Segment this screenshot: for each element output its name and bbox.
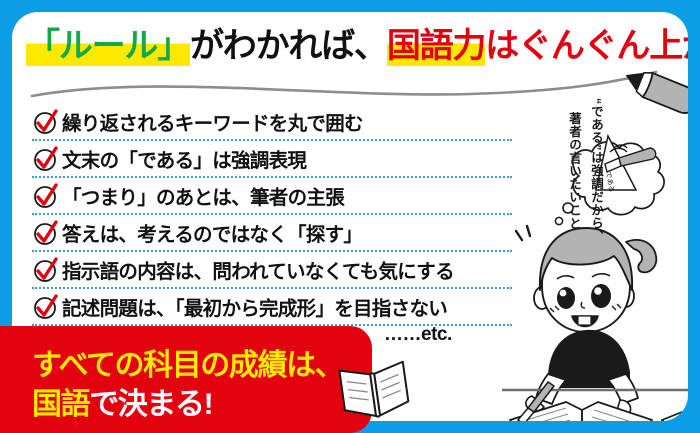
check-circle-icon	[32, 183, 58, 209]
list-item[interactable]: 答えは、考えるのではなく「探す」	[32, 215, 512, 252]
sparkle-marks	[516, 226, 530, 240]
list-item[interactable]: 「つまり」のあとは、筆者の主張	[32, 178, 512, 215]
list-item-label: 「つまり」のあとは、筆者の主張	[62, 181, 344, 210]
page-title: 「ルール」がわかれば、国語力はぐんぐん上がる!	[26, 20, 674, 72]
list-item[interactable]: 指示語の内容は、問われていなくても気にする	[32, 252, 512, 289]
title-segment-tail: はぐんぐん上がる!	[485, 27, 688, 65]
list-item[interactable]: 記述問題は、「最初から完成形」を目指さない	[32, 289, 512, 326]
title-segment-rule: 「ルール」	[26, 27, 190, 66]
handwritten-note: “である”は強調だから、 著者の言いたいこと	[540, 98, 602, 248]
list-item-label: 指示語の内容は、問われていなくても気にする	[62, 255, 454, 284]
check-circle-icon	[32, 220, 58, 246]
check-circle-icon	[32, 294, 58, 320]
poster-root: 「ルール」がわかれば、国語力はぐんぐん上がる! 繰り返さ	[0, 0, 700, 433]
handwritten-note-column-1: “である”は強調だから、	[590, 98, 603, 243]
title-segment-kokugoryoku: 国語力	[387, 27, 485, 66]
list-item-label: 答えは、考えるのではなく「探す」	[62, 218, 362, 247]
list-item-label: 繰り返されるキーワードを丸で囲む	[62, 107, 363, 136]
bottom-banner: すべての科目の成績は、 国語で決まる!	[0, 326, 372, 433]
list-item-label: 文末の「である」は強調表現	[62, 144, 306, 173]
handwritten-note-column-2: 著者の言いたいこと	[568, 112, 581, 230]
list-item-label: 記述問題は、「最初から完成形」を目指さない	[62, 292, 447, 321]
check-circle-icon	[32, 109, 58, 135]
list-item[interactable]: 繰り返されるキーワードを丸で囲む	[32, 104, 512, 141]
open-book-icon	[336, 352, 412, 422]
banner-line-2-kokugo: 国語	[32, 388, 89, 421]
check-circle-icon	[32, 146, 58, 172]
list-item[interactable]: 文末の「である」は強調表現	[32, 141, 512, 178]
etc-note: ……etc.	[384, 324, 452, 346]
banner-line-2: 国語で決まる!	[32, 379, 212, 423]
eraser-icon	[662, 412, 688, 421]
banner-line-1: すべての科目の成績は、	[32, 340, 343, 384]
rules-checklist: 繰り返されるキーワードを丸で囲む 文末の「である」は強調表現	[32, 104, 512, 326]
banner-line-2-tail: で決まる!	[89, 388, 212, 421]
title-segment-connector: がわかれば、	[190, 27, 387, 65]
banner-line-1-text: すべての科目の成績は、	[32, 349, 343, 382]
check-circle-icon	[32, 257, 58, 283]
